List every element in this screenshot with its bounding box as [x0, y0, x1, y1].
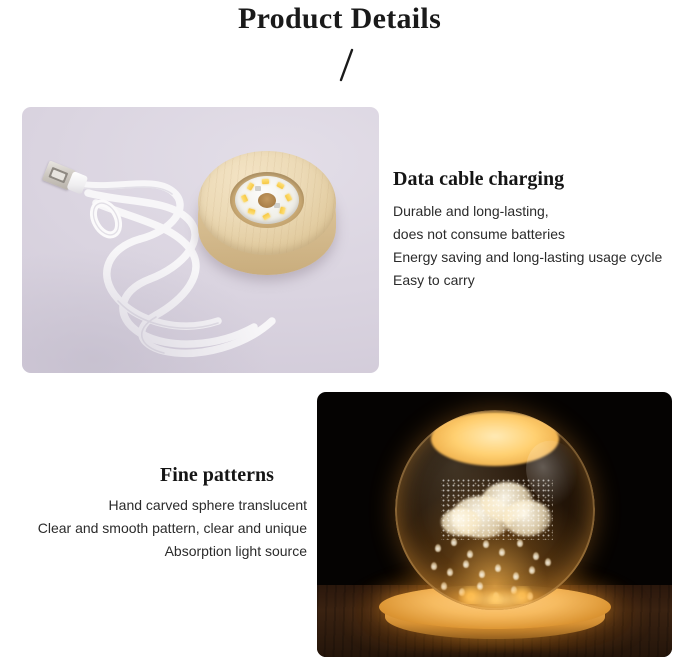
- crystal-sphere: [395, 410, 595, 610]
- usb-cable-and-wooden-led-base-photo: [22, 107, 379, 373]
- wooden-led-base: [194, 145, 340, 281]
- led-pcb-ring: [235, 176, 299, 224]
- section-heading-data-cable-charging: Data cable charging: [393, 167, 564, 191]
- body-line: Energy saving and long-lasting usage cyc…: [393, 246, 673, 269]
- body-line: Absorption light source: [0, 540, 307, 563]
- crystal-ball-cloud-lamp-photo: [317, 392, 672, 657]
- body-line: Clear and smooth pattern, clear and uniq…: [0, 517, 307, 540]
- body-line: Easy to carry: [393, 269, 673, 292]
- cable-tie: [88, 199, 123, 239]
- body-line: Hand carved sphere translucent: [0, 494, 307, 517]
- body-line: does not consume batteries: [393, 223, 673, 246]
- section-heading-fine-patterns: Fine patterns: [160, 463, 274, 487]
- page-title: Product Details: [0, 2, 679, 36]
- section-body-fine-patterns: Hand carved sphere translucent Clear and…: [0, 494, 307, 563]
- title-divider-slash-icon: [334, 48, 360, 82]
- sphere-rim-light: [395, 410, 595, 610]
- section-body-data-cable-charging: Durable and long-lasting, does not consu…: [393, 200, 673, 292]
- body-line: Durable and long-lasting,: [393, 200, 673, 223]
